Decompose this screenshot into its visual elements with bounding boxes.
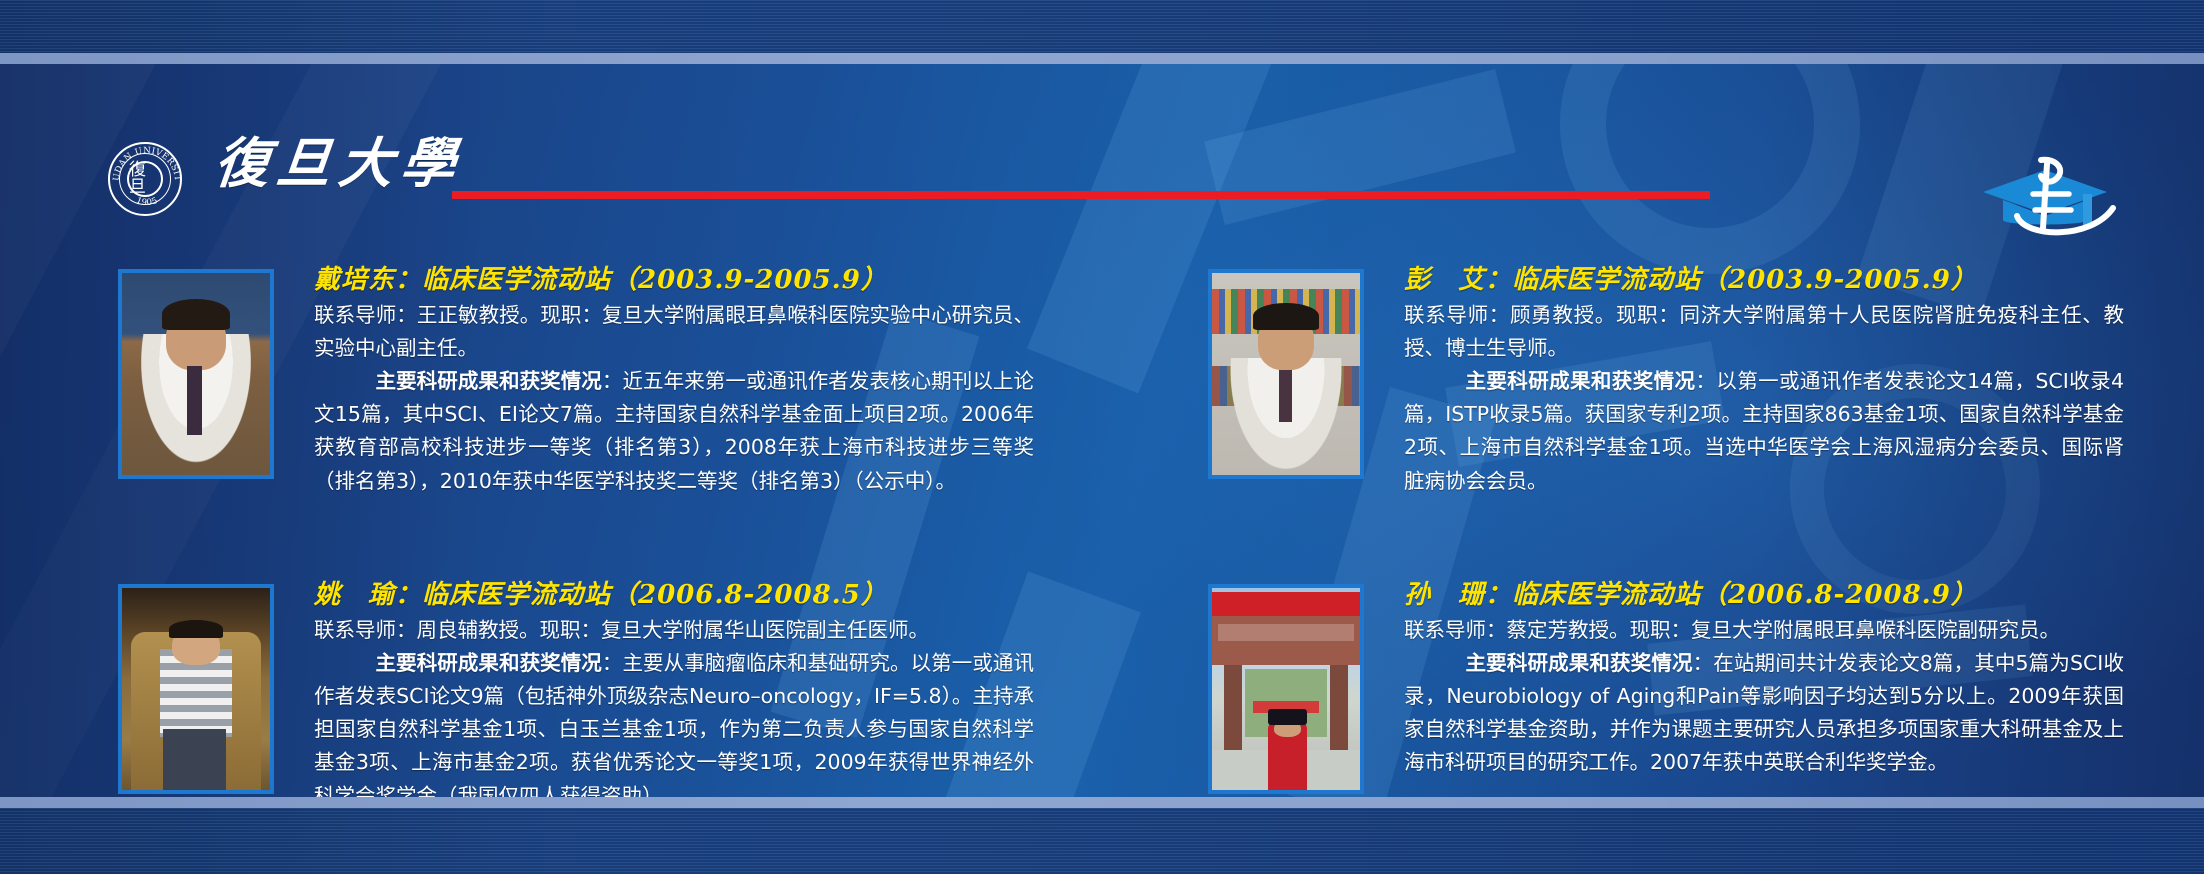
profile-text-body: 彭 艾：临床医学流动站（2003.9-2005.9） 联系导师：顾勇教授。现职：… bbox=[1404, 265, 2124, 498]
profile-achievements-line: 主要科研成果和获奖情况：在站期间共计发表论文8篇，其中5篇为SCI收录，Neur… bbox=[1404, 647, 2124, 780]
achievements-label: 主要科研成果和获奖情况 bbox=[376, 369, 602, 393]
profile-photo bbox=[1208, 269, 1364, 479]
profile-details: 联系导师：周良辅教授。现职：复旦大学附属华山医院副主任医师。 主要科研成果和获奖… bbox=[314, 614, 1034, 797]
bottom-border-band bbox=[0, 808, 2204, 874]
photo-image bbox=[122, 588, 270, 790]
profile-achievements-line: 主要科研成果和获奖情况：主要从事脑瘤临床和基础研究。以第一或通讯作者发表SCI论… bbox=[314, 647, 1034, 797]
graduation-cap-logo bbox=[1973, 154, 2173, 242]
profile-heading: 孙 珊：临床医学流动站（2006.8-2008.9） bbox=[1404, 580, 2124, 611]
profile-details: 联系导师：顾勇教授。现职：同济大学附属第十人民医院肾脏免疫科主任、教授、博士生导… bbox=[1404, 299, 2124, 498]
profile-text-body: 孙 珊：临床医学流动站（2006.8-2008.9） 联系导师：蔡定芳教授。现职… bbox=[1404, 580, 2124, 780]
profile-advisor-line: 联系导师：蔡定芳教授。现职：复旦大学附属眼耳鼻喉科医院副研究员。 bbox=[1404, 614, 2124, 647]
photo-image bbox=[122, 273, 270, 475]
profile-details: 联系导师：王正敏教授。现职：复旦大学附属眼耳鼻喉科医院实验中心研究员、实验中心副… bbox=[314, 299, 1034, 498]
header-red-rule bbox=[452, 191, 1710, 199]
poster-root: FUDAN UNIVERSITY 1905 復旦 復旦大學 bbox=[0, 0, 2204, 874]
profile-advisor-line: 联系导师：顾勇教授。现职：同济大学附属第十人民医院肾脏免疫科主任、教授、博士生导… bbox=[1404, 299, 2124, 365]
profile-advisor-line: 联系导师：王正敏教授。现职：复旦大学附属眼耳鼻喉科医院实验中心研究员、实验中心副… bbox=[314, 299, 1034, 365]
profile-achievements-line: 主要科研成果和获奖情况：以第一或通讯作者发表论文14篇，SCI收录4篇，ISTP… bbox=[1404, 365, 2124, 498]
profile-heading: 戴培东：临床医学流动站（2003.9-2005.9） bbox=[314, 265, 1034, 296]
photo-image bbox=[1212, 588, 1360, 790]
profile-details: 联系导师：蔡定芳教授。现职：复旦大学附属眼耳鼻喉科医院副研究员。 主要科研成果和… bbox=[1404, 614, 2124, 780]
profile-photo bbox=[118, 269, 274, 479]
profile-text-body: 戴培东：临床医学流动站（2003.9-2005.9） 联系导师：王正敏教授。现职… bbox=[314, 265, 1034, 498]
achievements-label: 主要科研成果和获奖情况 bbox=[376, 651, 602, 675]
achievements-label: 主要科研成果和获奖情况 bbox=[1466, 651, 1693, 675]
poster-header: FUDAN UNIVERSITY 1905 復旦 復旦大學 bbox=[0, 64, 2204, 160]
achievements-label: 主要科研成果和获奖情况 bbox=[1466, 369, 1696, 393]
top-divider-rule bbox=[0, 53, 2204, 64]
profile-text-body: 姚 瑜：临床医学流动站（2006.8-2008.5） 联系导师：周良辅教授。现职… bbox=[314, 580, 1034, 797]
university-wordmark: 復旦大學 bbox=[212, 136, 466, 190]
fudan-seal-logo: FUDAN UNIVERSITY 1905 復旦 bbox=[108, 142, 182, 216]
poster-main-field: FUDAN UNIVERSITY 1905 復旦 復旦大學 bbox=[0, 64, 2204, 797]
seal-core-glyph: 復旦 bbox=[127, 161, 163, 197]
profile-heading: 彭 艾：临床医学流动站（2003.9-2005.9） bbox=[1404, 265, 2124, 296]
top-border-band bbox=[0, 0, 2204, 53]
profile-photo bbox=[118, 584, 274, 794]
profile-advisor-line: 联系导师：周良辅教授。现职：复旦大学附属华山医院副主任医师。 bbox=[314, 614, 1034, 647]
profile-heading: 姚 瑜：临床医学流动站（2006.8-2008.5） bbox=[314, 580, 1034, 611]
profile-achievements-line: 主要科研成果和获奖情况：近五年来第一或通讯作者发表核心期刊以上论文15篇，其中S… bbox=[314, 365, 1034, 498]
bottom-divider-rule bbox=[0, 797, 2204, 808]
profile-photo bbox=[1208, 584, 1364, 794]
photo-image bbox=[1212, 273, 1360, 475]
